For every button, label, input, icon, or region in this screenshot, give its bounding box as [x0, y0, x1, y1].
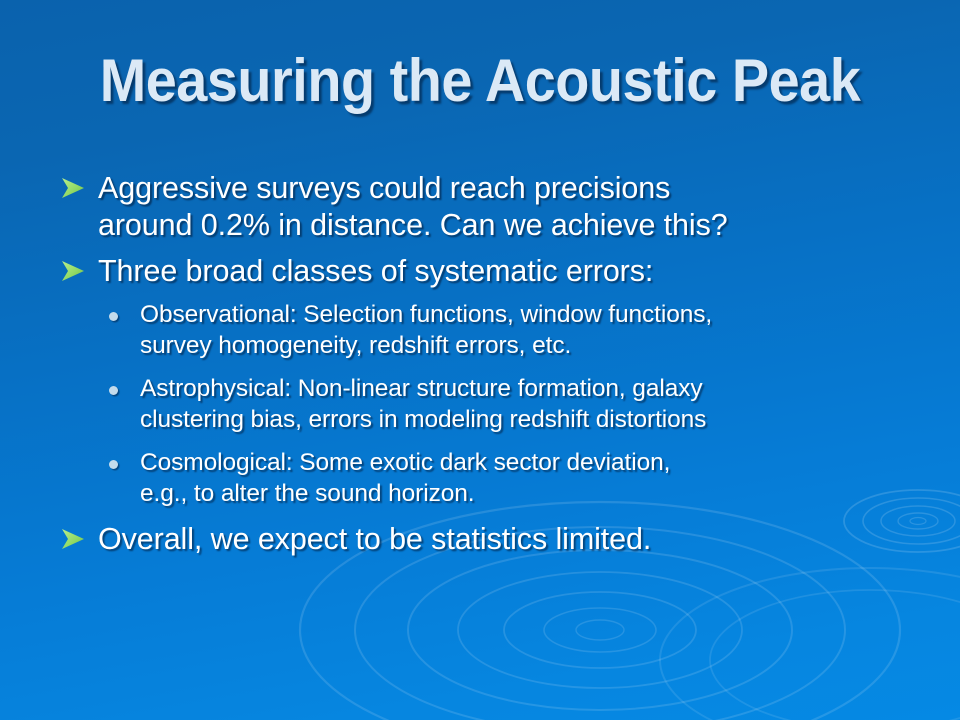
sub-bullet-line: survey homogeneity, redshift errors, etc… — [140, 330, 932, 361]
bullet-item: Aggressive surveys could reach precision… — [52, 170, 932, 244]
bullet-line: Aggressive surveys could reach precision… — [98, 170, 932, 207]
arrowhead-bullet-icon — [60, 260, 86, 282]
dot-bullet-icon — [109, 460, 118, 469]
bullet-line: Three broad classes of systematic errors… — [98, 253, 932, 290]
sub-bullet-item: Observational: Selection functions, wind… — [52, 299, 932, 361]
arrowhead-bullet-icon — [60, 177, 86, 199]
slide-body: Aggressive surveys could reach precision… — [52, 170, 932, 567]
arrowhead-bullet-icon — [60, 528, 86, 550]
sub-bullet-line: Observational: Selection functions, wind… — [140, 299, 932, 330]
sub-bullet-list: Observational: Selection functions, wind… — [52, 299, 932, 509]
sub-bullet-item: Cosmological: Some exotic dark sector de… — [52, 447, 932, 509]
bullet-line: Overall, we expect to be statistics limi… — [98, 521, 932, 558]
slide-title: Measuring the Acoustic Peak — [34, 46, 927, 115]
sub-bullet-line: clustering bias, errors in modeling reds… — [140, 404, 932, 435]
sub-bullet-line: e.g., to alter the sound horizon. — [140, 478, 932, 509]
bullet-line: around 0.2% in distance. Can we achieve … — [98, 207, 932, 244]
sub-bullet-line: Cosmological: Some exotic dark sector de… — [140, 447, 932, 478]
bullet-item: Three broad classes of systematic errors… — [52, 253, 932, 290]
dot-bullet-icon — [109, 312, 118, 321]
bullet-item: Overall, we expect to be statistics limi… — [52, 521, 932, 558]
sub-bullet-line: Astrophysical: Non-linear structure form… — [140, 373, 932, 404]
sub-bullet-item: Astrophysical: Non-linear structure form… — [52, 373, 932, 435]
dot-bullet-icon — [109, 386, 118, 395]
presentation-slide: Measuring the Acoustic Peak Aggressive s… — [0, 0, 960, 720]
